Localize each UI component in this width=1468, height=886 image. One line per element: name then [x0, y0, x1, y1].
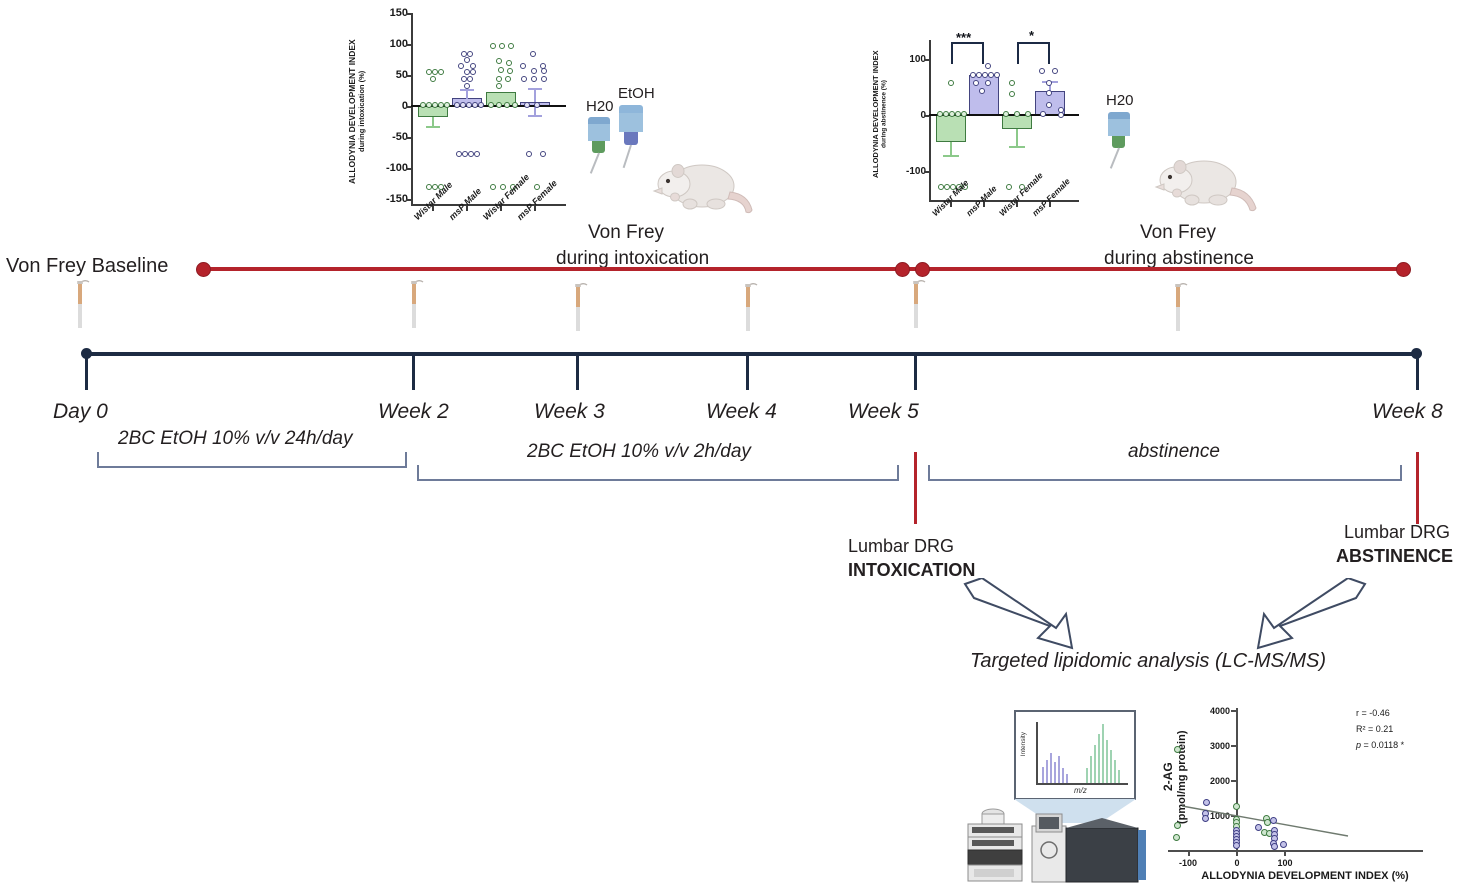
- chart2-err-wistar-male: [950, 142, 952, 156]
- ms-peak: [1110, 750, 1112, 783]
- chart1-point: [444, 102, 450, 108]
- phase-label-abstinence: abstinence: [1128, 441, 1220, 463]
- chart2-errcap-wistar-female: [1009, 146, 1025, 148]
- ethanol-bottle-icon: [619, 105, 643, 169]
- timeline-tick-week2: [412, 352, 415, 390]
- chart1-errcap-wistar-male: [426, 126, 440, 128]
- ms-peak: [1086, 768, 1088, 783]
- water-bottle-icon: [588, 117, 610, 175]
- chart1-point: [490, 43, 496, 49]
- bottle-ethanol-label: EtOH: [618, 85, 655, 102]
- scatter-point: [1174, 746, 1181, 753]
- chart1-point: [506, 60, 512, 66]
- chart1-point: [464, 83, 470, 89]
- chart2-bar-wistar-male: [936, 115, 966, 142]
- tissue-drop-line-intoxication: [914, 452, 917, 524]
- chart1-ytickmark-50: [406, 75, 411, 77]
- chart2-ytick-m100: -100: [888, 166, 926, 177]
- chart2-ytick-0: 0: [894, 110, 926, 121]
- ms-peak: [1118, 770, 1120, 783]
- ms-peak: [1106, 740, 1108, 783]
- rat-icon-2: [1146, 138, 1260, 222]
- chart1-point: [541, 76, 547, 82]
- chart2-sig-stars-1: ***: [956, 30, 971, 45]
- scatter-stat-p: p = 0.0118 *: [1356, 740, 1404, 750]
- chart2-point: [1046, 80, 1052, 86]
- chart1-point: [521, 76, 527, 82]
- chart1-ytick-100: 100: [374, 38, 408, 50]
- mass-spectrum-panel: Intensity m/z: [1014, 710, 1136, 800]
- chart1-errcap-msp-female-lower: [528, 115, 542, 117]
- ms-peak: [1054, 762, 1056, 783]
- chart1-point: [530, 51, 536, 57]
- chart2-ytick-100: 100: [894, 54, 926, 65]
- chart2-point: [994, 72, 1000, 78]
- red-dot-week8: [1396, 262, 1411, 277]
- chart1-point: [490, 184, 496, 190]
- von-frey-filament-icon: [70, 277, 90, 329]
- ms-x-axis-label: m/z: [1074, 786, 1087, 795]
- chart2-sig-stars-2: *: [1029, 28, 1034, 43]
- chart1-ytickmark-100: [406, 44, 411, 46]
- chart2-point: [985, 80, 991, 86]
- chart1-point: [470, 69, 476, 75]
- chart1-point: [496, 58, 502, 64]
- ms-peak: [1102, 724, 1104, 783]
- scatter-point: [1271, 843, 1278, 850]
- arrow-abstinence-to-analysis: [1240, 578, 1370, 650]
- chart2-err-wistar-female: [1016, 129, 1018, 147]
- water-bottle-icon-2: [1108, 112, 1130, 170]
- timeline-axis: [86, 352, 1420, 356]
- von-frey-baseline-label: Von Frey Baseline: [6, 255, 168, 278]
- chart2-point: [1009, 91, 1015, 97]
- chart1-err-msp-female: [534, 89, 536, 102]
- phase-label-2h: 2BC EtOH 10% v/v 2h/day: [527, 441, 751, 463]
- chart2-point: [1040, 111, 1046, 117]
- chart1-point: [496, 83, 502, 89]
- phase-bracket-abstinence: [928, 465, 1402, 481]
- chart1-y-axis-title: ALLODYNIA DEVELOPMENT INDEX during intox…: [348, 14, 374, 209]
- abstinence-illustration: H20: [1104, 90, 1264, 230]
- chart1-point: [534, 102, 540, 108]
- tissue-drop-line-abstinence: [1416, 452, 1419, 524]
- ms-peak: [1098, 734, 1100, 783]
- chart1-point: [496, 76, 502, 82]
- timeline-tick-week4: [746, 352, 749, 390]
- chart1-point: [507, 68, 513, 74]
- scatter-point: [1174, 822, 1181, 829]
- chart1-ytickmark-m150: [406, 199, 411, 201]
- chart2-ytickmark-100: [924, 59, 929, 61]
- chart1-point: [478, 102, 484, 108]
- chart1-ytick-m150: -150: [368, 193, 408, 205]
- von-frey-testing-line: [202, 267, 1408, 271]
- chart1-point: [488, 102, 494, 108]
- chart1-errcap-msp-male: [460, 89, 474, 91]
- ms-peak: [1046, 760, 1048, 783]
- chart1-point: [524, 102, 530, 108]
- chart2-point: [1039, 68, 1045, 74]
- phase-label-24h: 2BC EtOH 10% v/v 24h/day: [118, 428, 352, 450]
- arrow-intoxication-to-analysis: [960, 578, 1090, 650]
- scatter-point: [1203, 799, 1210, 806]
- chart2-point: [1014, 111, 1020, 117]
- timeline-label-day0: Day 0: [53, 400, 108, 424]
- phase-bracket-24h: [97, 452, 407, 468]
- chart2-ytickmark-m100: [924, 171, 929, 173]
- chart1-point: [508, 43, 514, 49]
- chart1-y-axis-title-line2: during intoxication (%): [357, 71, 366, 152]
- ms-peak: [1066, 774, 1068, 783]
- phase-bracket-2h: [417, 465, 899, 481]
- chart1-ytick-50: 50: [374, 69, 408, 81]
- chart1-point: [438, 69, 444, 75]
- chart1-point: [531, 76, 537, 82]
- scatter-xtick-m100: -100: [1172, 858, 1204, 868]
- chart1-point: [499, 43, 505, 49]
- figure-root: ALLODYNIA DEVELOPMENT INDEX during intox…: [0, 0, 1468, 886]
- red-dot-week5-b: [915, 262, 930, 277]
- chart1-point: [474, 151, 480, 157]
- chart2-point: [1058, 112, 1064, 118]
- chart1-point: [505, 76, 511, 82]
- chart1-point: [467, 76, 473, 82]
- ms-y-axis-label: Intensity: [1020, 732, 1027, 756]
- chart2-point: [1052, 68, 1058, 74]
- chart1-point: [504, 102, 510, 108]
- chart1-point: [512, 102, 518, 108]
- chart1-ytickmark-m100: [406, 168, 411, 170]
- chart1-ytick-0: 0: [374, 100, 408, 112]
- von-frey-filament-icon: [568, 280, 588, 332]
- timeline-tick-week5: [914, 352, 917, 390]
- lumbar-drg-intoxication-line1: Lumbar DRG: [848, 536, 954, 557]
- timeline-tick-day0: [85, 352, 88, 390]
- ms-instrument-icon: [1030, 812, 1148, 886]
- chart2-point: [1046, 102, 1052, 108]
- lipidomic-analysis-label: Targeted lipidomic analysis (LC-MS/MS): [970, 650, 1326, 673]
- ms-y-axis: [1036, 722, 1038, 784]
- lumbar-drg-abstinence-line2: ABSTINENCE: [1336, 546, 1453, 567]
- chart1-y-axis-line: [411, 13, 413, 206]
- ms-peak: [1114, 760, 1116, 783]
- ms-peak: [1062, 768, 1064, 783]
- chart1-point: [496, 102, 502, 108]
- ms-peak: [1050, 753, 1052, 783]
- chart1-point: [467, 51, 473, 57]
- timeline-tick-week8: [1416, 352, 1419, 390]
- von-frey-filament-icon: [738, 280, 758, 332]
- chart2-point: [1046, 90, 1052, 96]
- scatter-point: [1280, 841, 1287, 848]
- scatter-stat-r2: R² = 0.21: [1356, 724, 1393, 734]
- red-dot-week2: [196, 262, 211, 277]
- timeline-tick-week3: [576, 352, 579, 390]
- timeline-label-week2: Week 2: [378, 400, 449, 424]
- chart2-point: [979, 88, 985, 94]
- chart1-ytick-m100: -100: [368, 162, 408, 174]
- chart-allodynia-abstinence: ALLODYNIA DEVELOPMENT INDEX during absti…: [872, 10, 1087, 250]
- chart1-point: [531, 68, 537, 74]
- chart2-point: [961, 111, 967, 117]
- chart1-point: [526, 151, 532, 157]
- chart1-err-msp-male: [466, 90, 468, 99]
- ms-peak: [1042, 767, 1044, 783]
- ms-peak: [1058, 756, 1060, 783]
- von-frey-filament-icon: [906, 277, 926, 329]
- timeline-label-week4: Week 4: [706, 400, 777, 424]
- scatter-point: [1202, 815, 1209, 822]
- ms-peak: [1090, 756, 1092, 783]
- chart-2ag-correlation: 2-AG (pmol/mg protein) 4000 3000 2000 10…: [1160, 698, 1460, 886]
- chart1-y-axis-title-line1: ALLODYNIA DEVELOPMENT INDEX: [347, 39, 357, 184]
- chart2-point: [1003, 111, 1009, 117]
- chart1-ytick-m50: -50: [368, 131, 408, 143]
- bottle-water-label: H20: [586, 98, 614, 115]
- scatter-stat-p-value: = 0.0118 *: [1361, 740, 1404, 750]
- chart2-y-axis-title-line2: during abstinence (%): [881, 81, 888, 149]
- scatter-point: [1233, 803, 1240, 810]
- chart2-point: [1025, 111, 1031, 117]
- von-frey-abstinence-caption-line1: Von Frey: [1140, 222, 1216, 244]
- scatter-point: [1233, 842, 1240, 849]
- chart-allodynia-intoxication: ALLODYNIA DEVELOPMENT INDEX during intox…: [348, 6, 573, 246]
- chart2-point: [973, 80, 979, 86]
- bottle-water-label-2: H20: [1106, 92, 1134, 109]
- chart1-point: [540, 151, 546, 157]
- chart1-errcap-msp-female: [528, 88, 542, 90]
- timeline-label-week3: Week 3: [534, 400, 605, 424]
- chart2-point: [1006, 184, 1012, 190]
- chart1-ytickmark-m50: [406, 137, 411, 139]
- scatter-point: [1173, 834, 1180, 841]
- lumbar-drg-abstinence-line1: Lumbar DRG: [1344, 522, 1450, 543]
- von-frey-intoxication-caption-line1: Von Frey: [588, 222, 664, 244]
- chart1-ytick-150: 150: [374, 7, 408, 19]
- chart1-point: [498, 67, 504, 73]
- chart1-ytickmark-150: [406, 13, 411, 15]
- chart2-sig-bracket-2: [1017, 42, 1050, 64]
- lcmsms-illustration: Intensity m/z: [952, 700, 1152, 886]
- rat-icon: [644, 142, 756, 224]
- von-frey-filament-icon: [404, 277, 424, 329]
- timeline-label-week5: Week 5: [848, 400, 919, 424]
- red-dot-week5-a: [895, 262, 910, 277]
- chart2-y-axis-line: [929, 40, 931, 202]
- scatter-x-axis-title: ALLODYNIA DEVELOPMENT INDEX (%): [1160, 870, 1450, 882]
- timeline-label-week8: Week 8: [1372, 400, 1443, 424]
- scatter-xtick-0: 0: [1222, 858, 1252, 868]
- von-frey-filament-icon: [1168, 280, 1188, 332]
- chart2-point: [985, 63, 991, 69]
- scatter-stat-r: r = -0.46: [1356, 708, 1390, 718]
- chart1-point: [458, 63, 464, 69]
- ms-x-axis: [1036, 783, 1128, 785]
- lumbar-drg-intoxication-line2: INTOXICATION: [848, 560, 975, 581]
- chart1-point: [430, 76, 436, 82]
- chart1-point: [541, 68, 547, 74]
- scatter-point: [1270, 817, 1277, 824]
- chart1-point: [464, 57, 470, 63]
- chart1-point: [520, 63, 526, 69]
- chart2-point: [1009, 80, 1015, 86]
- chart2-y-axis-title-line1: ALLODYNIA DEVELOPMENT INDEX: [871, 51, 880, 179]
- ms-peak: [1094, 745, 1096, 783]
- scatter-xtick-100: 100: [1270, 858, 1300, 868]
- chart2-bar-wistar-female: [1002, 115, 1032, 129]
- chart2-point: [948, 80, 954, 86]
- chart2-sig-bracket-1: [951, 42, 984, 64]
- chart2-errcap-wistar-male: [943, 155, 959, 157]
- scatter-point: [1255, 824, 1262, 831]
- intoxication-illustration: H20 EtOH: [586, 84, 756, 224]
